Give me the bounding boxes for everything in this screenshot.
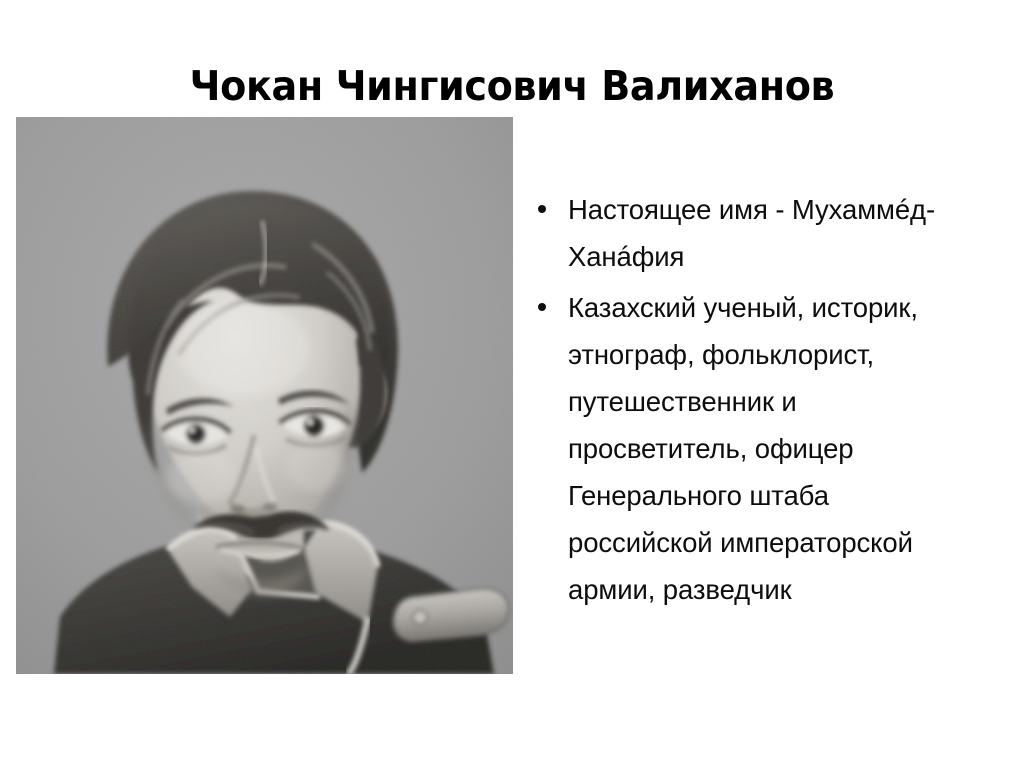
- portrait-photo: [16, 117, 513, 674]
- list-item: Настоящее имя - Мухаммéд-Ханáфия: [530, 186, 970, 280]
- page-title: Чокан Чингисович Валиханов: [36, 65, 988, 108]
- slide-root: Чокан Чингисович Валиханов: [0, 0, 1024, 767]
- list-item: Казахский ученый, историк, этнограф, фол…: [530, 284, 970, 613]
- fact-list: Настоящее имя - Мухаммéд-Ханáфия Казахск…: [530, 186, 970, 617]
- portrait-illustration: [16, 117, 513, 674]
